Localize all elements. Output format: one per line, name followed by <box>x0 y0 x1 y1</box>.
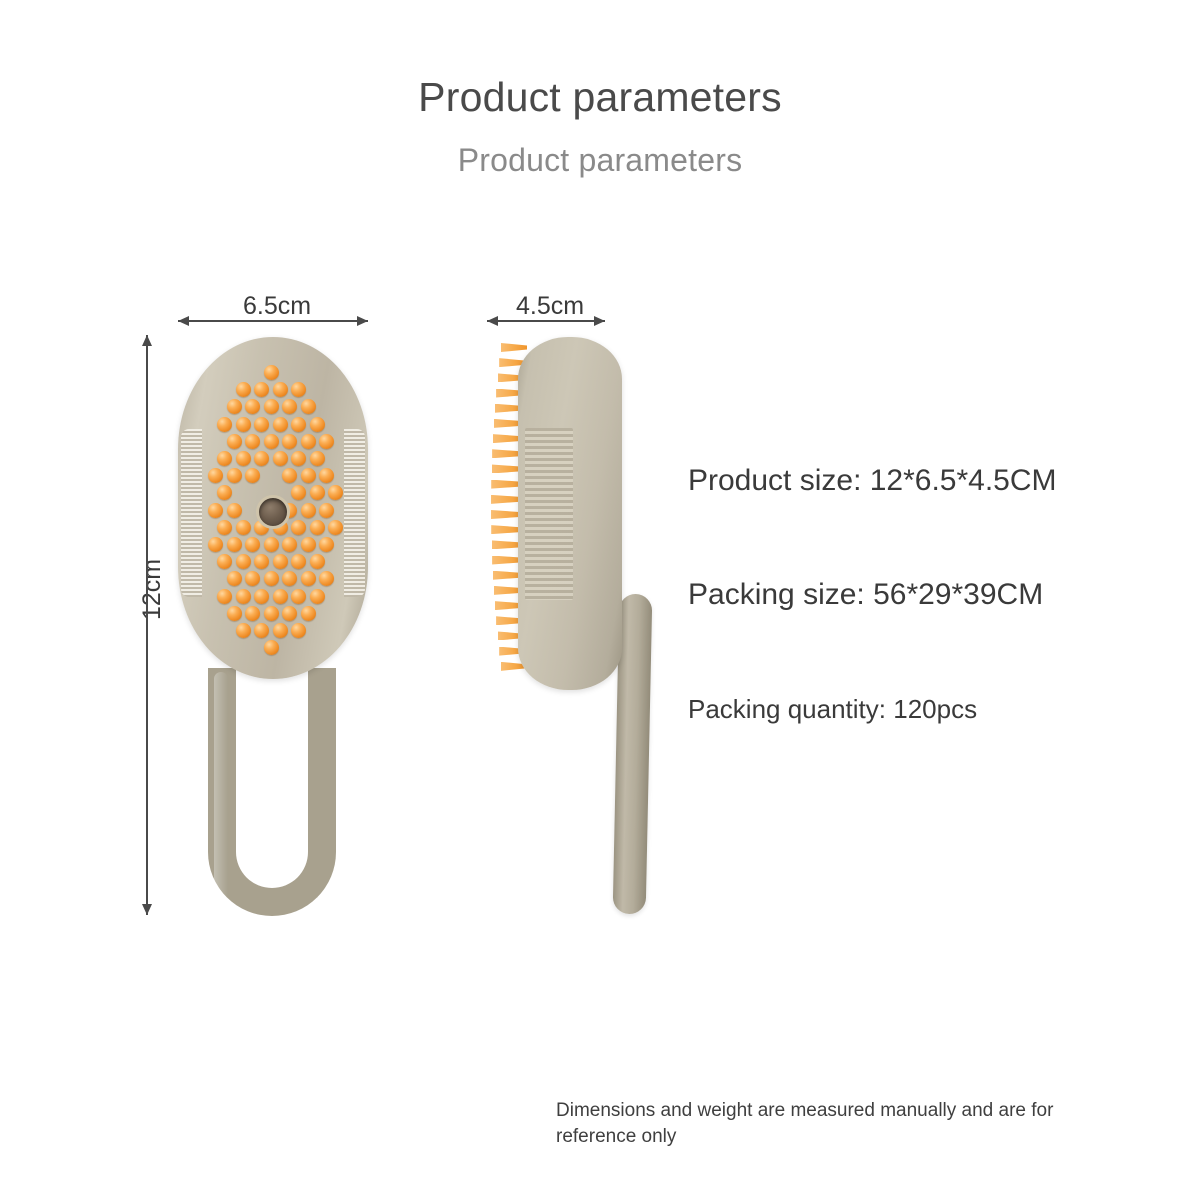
silicone-nub <box>236 451 251 466</box>
height-arrow-down-icon <box>142 904 152 915</box>
packing-size-spec: Packing size: 56*29*39CM <box>688 578 1043 612</box>
silicone-nub <box>310 554 325 569</box>
silicone-nub <box>291 520 306 535</box>
silicone-nub <box>273 589 288 604</box>
silicone-nub <box>236 382 251 397</box>
silicone-nub <box>301 399 316 414</box>
silicone-nub <box>208 503 223 518</box>
silicone-nub <box>254 451 269 466</box>
side-view-of-steam-brush <box>487 337 667 697</box>
silicone-nub <box>254 623 269 638</box>
silicone-nub <box>319 571 334 586</box>
comb-teeth-left-icon <box>181 429 202 597</box>
silicone-nub <box>282 399 297 414</box>
silicone-nub <box>282 468 297 483</box>
silicone-nub <box>236 520 251 535</box>
silicone-nub <box>319 468 334 483</box>
comb-teeth-right-icon <box>344 429 365 597</box>
silicone-nub <box>273 554 288 569</box>
silicone-nub <box>264 606 279 621</box>
height-arrow-up-icon <box>142 335 152 346</box>
silicone-nub <box>301 537 316 552</box>
silicone-nub <box>217 554 232 569</box>
silicone-nub <box>227 434 242 449</box>
silicone-nub <box>245 399 260 414</box>
measurement-disclaimer: Dimensions and weight are measured manua… <box>556 1098 1076 1150</box>
silicone-nub <box>217 451 232 466</box>
silicone-nub <box>273 417 288 432</box>
silicone-nub <box>319 537 334 552</box>
product-parameters-canvas: Product parameters Product parameters 6.… <box>0 0 1200 1200</box>
silicone-nub <box>291 485 306 500</box>
width-dimension-line <box>178 320 368 322</box>
silicone-nub <box>319 434 334 449</box>
silicone-nub <box>301 503 316 518</box>
silicone-nub <box>291 623 306 638</box>
silicone-nub <box>310 451 325 466</box>
silicone-nub <box>264 640 279 655</box>
silicone-nub <box>273 382 288 397</box>
silicone-nub <box>227 468 242 483</box>
silicone-nub <box>264 399 279 414</box>
page-subtitle: Product parameters <box>0 142 1200 179</box>
silicone-nub <box>301 434 316 449</box>
silicone-nub <box>291 554 306 569</box>
silicone-nub <box>245 606 260 621</box>
silicone-nub <box>291 451 306 466</box>
silicone-nub <box>301 571 316 586</box>
silicone-nub <box>245 434 260 449</box>
silicone-nub <box>217 485 232 500</box>
silicone-nub <box>227 503 242 518</box>
silicone-nub <box>319 503 334 518</box>
silicone-nub <box>227 537 242 552</box>
depth-arrow-right-icon <box>594 316 605 326</box>
front-view-of-steam-brush <box>178 337 368 679</box>
silicone-nub <box>208 537 223 552</box>
silicone-nub <box>217 417 232 432</box>
silicone-nub <box>328 485 343 500</box>
width-dimension-label: 6.5cm <box>243 292 311 321</box>
silicone-nub <box>227 399 242 414</box>
silicone-nub <box>254 382 269 397</box>
front-view-handle-loop <box>208 668 336 916</box>
silicone-nub <box>264 434 279 449</box>
page-title: Product parameters <box>0 74 1200 121</box>
silicone-nub <box>254 554 269 569</box>
silicone-nub <box>282 606 297 621</box>
silicone-nub <box>273 451 288 466</box>
silicone-nub <box>245 571 260 586</box>
side-grip-ridges-icon <box>525 428 573 600</box>
steam-nozzle-hole-icon <box>256 495 290 529</box>
silicone-nub <box>227 571 242 586</box>
depth-dimension-line <box>487 320 605 322</box>
silicone-nub <box>264 365 279 380</box>
width-arrow-left-icon <box>178 316 189 326</box>
silicone-nub <box>310 589 325 604</box>
silicone-nub <box>291 417 306 432</box>
silicone-nub <box>310 520 325 535</box>
silicone-nub <box>282 571 297 586</box>
silicone-nub <box>273 623 288 638</box>
silicone-nub <box>310 485 325 500</box>
silicone-nub <box>301 468 316 483</box>
height-dimension-line <box>146 335 148 915</box>
silicone-nub <box>254 417 269 432</box>
silicone-nub <box>291 382 306 397</box>
silicone-nub <box>245 468 260 483</box>
silicone-nub <box>217 589 232 604</box>
bristle-spike <box>501 343 527 352</box>
silicone-nub <box>245 537 260 552</box>
height-dimension-label: 12cm <box>138 559 167 620</box>
silicone-nub <box>208 468 223 483</box>
silicone-nub <box>310 417 325 432</box>
width-arrow-right-icon <box>357 316 368 326</box>
silicone-nub <box>217 520 232 535</box>
silicone-nub <box>236 623 251 638</box>
product-size-spec: Product size: 12*6.5*4.5CM <box>688 464 1057 498</box>
silicone-nub <box>301 606 316 621</box>
silicone-nub <box>236 589 251 604</box>
depth-arrow-left-icon <box>487 316 498 326</box>
silicone-nub <box>264 537 279 552</box>
silicone-nub <box>328 520 343 535</box>
silicone-nub <box>264 571 279 586</box>
silicone-nub <box>282 434 297 449</box>
silicone-nub <box>236 417 251 432</box>
silicone-nub <box>227 606 242 621</box>
depth-dimension-label: 4.5cm <box>516 292 584 321</box>
silicone-nub <box>254 589 269 604</box>
silicone-nub <box>282 537 297 552</box>
packing-quantity-spec: Packing quantity: 120pcs <box>688 694 977 725</box>
silicone-nub <box>291 589 306 604</box>
silicone-nub <box>236 554 251 569</box>
